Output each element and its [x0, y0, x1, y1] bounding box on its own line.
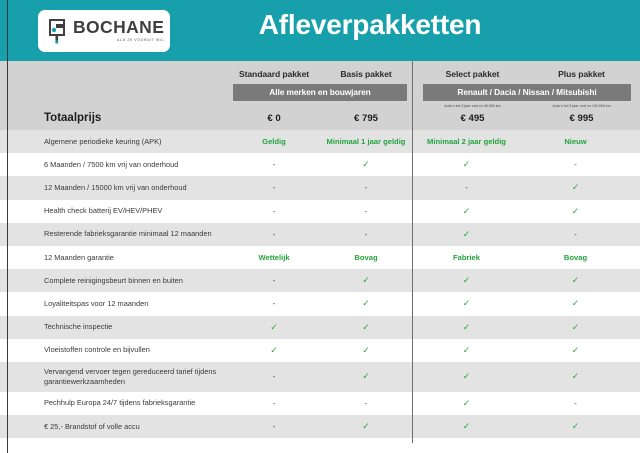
feature-value-col1: -: [228, 422, 320, 431]
table-row: Vloeistoffen controle en bijvullen✓✓✓✓: [0, 339, 640, 362]
feature-label: Loyaliteitspas voor 12 maanden: [0, 299, 228, 309]
price-plus: € 995: [527, 113, 636, 124]
left-edge-rule: [7, 0, 8, 453]
table-row: 6 Maanden / 7500 km vrij van onderhoud-✓…: [0, 153, 640, 176]
table-row: Health check batterij EV/HEV/PHEV--✓✓: [0, 200, 640, 223]
feature-value-col2: ✓: [320, 298, 412, 309]
feature-value-col1: Geldig: [228, 137, 320, 146]
feature-value-col4: ✓: [521, 275, 630, 286]
table-row: Complete reinigingsbeurt binnen en buite…: [0, 269, 640, 292]
feature-value-col3: ✓: [412, 322, 521, 333]
feature-value-col3: Minimaal 2 jaar geldig: [412, 137, 521, 146]
feature-value-col3: Fabriek: [412, 253, 521, 262]
feature-label: Technische inspectie: [0, 322, 228, 332]
page-header: BOCHANE ALS JE VOORUIT WIL Afleverpakket…: [0, 0, 640, 61]
feature-comparison-table: Algemene periodieke keuring (APK)GeldigM…: [0, 130, 640, 438]
feature-value-col2: ✓: [320, 159, 412, 170]
feature-value-col3: ✓: [412, 206, 521, 217]
feature-value-col1: -: [228, 399, 320, 408]
table-footer-spacer: [0, 438, 640, 453]
column-header-plus: Plus pakket: [527, 69, 636, 79]
feature-value-col2: ✓: [320, 322, 412, 333]
feature-value-col2: -: [320, 230, 412, 239]
column-header-standaard: Standaard pakket: [228, 69, 320, 79]
feature-value-col4: -: [521, 230, 630, 239]
feature-value-col4: Nieuw: [521, 137, 630, 146]
feature-value-col4: ✓: [521, 206, 630, 217]
table-row: 12 Maanden / 15000 km vrij van onderhoud…: [0, 176, 640, 199]
total-price-label: Totaalprijs: [0, 112, 228, 124]
feature-value-col3: ✓: [412, 421, 521, 432]
price-standaard: € 0: [228, 113, 320, 124]
feature-value-col1: Wettelijk: [228, 253, 320, 262]
table-row: € 25,- Brandstof of volle accu-✓✓✓: [0, 415, 640, 438]
feature-value-col2: -: [320, 399, 412, 408]
table-row: Vervangend vervoer tegen gereduceerd tar…: [0, 362, 640, 392]
feature-value-col4: ✓: [521, 371, 630, 382]
feature-value-col1: -: [228, 207, 320, 216]
feature-value-col4: ✓: [521, 421, 630, 432]
feature-value-col4: Bovag: [521, 253, 630, 262]
feature-label: Vervangend vervoer tegen gereduceerd tar…: [0, 367, 228, 387]
feature-label: Complete reinigingsbeurt binnen en buite…: [0, 276, 228, 286]
feature-value-col1: -: [228, 230, 320, 239]
table-row: 12 Maanden garantieWettelijkBovagFabriek…: [0, 246, 640, 269]
feature-value-col1: -: [228, 160, 320, 169]
feature-value-col4: ✓: [521, 182, 630, 193]
brand-bar-left: Alle merken en bouwjaren: [233, 84, 407, 101]
feature-value-col4: -: [521, 160, 630, 169]
feature-value-col2: -: [320, 183, 412, 192]
column-header-select: Select pakket: [418, 69, 527, 79]
feature-value-col2: Minimaal 1 jaar geldig: [320, 137, 412, 146]
column-header-band: Standaard pakket Basis pakket Alle merke…: [0, 61, 640, 130]
feature-value-col1: ✓: [228, 345, 320, 356]
price-select: € 495: [418, 113, 527, 124]
group-divider-rule: [412, 61, 413, 443]
feature-value-col3: ✓: [412, 398, 521, 409]
feature-value-col3: ✓: [412, 371, 521, 382]
feature-value-col4: -: [521, 399, 630, 408]
table-row: Resterende fabrieksgarantie minimaal 12 …: [0, 223, 640, 246]
feature-label: 12 Maanden / 15000 km vrij van onderhoud: [0, 183, 228, 193]
feature-value-col4: ✓: [521, 345, 630, 356]
feature-value-col2: ✓: [320, 275, 412, 286]
table-row: Loyaliteitspas voor 12 maanden-✓✓✓: [0, 292, 640, 315]
feature-value-col2: -: [320, 207, 412, 216]
brand-bar-right: Renault / Dacia / Nissan / Mitsubishi: [423, 84, 631, 101]
table-row: Pechhulp Europa 24/7 tijdens fabrieksgar…: [0, 392, 640, 415]
feature-value-col3: ✓: [412, 345, 521, 356]
feature-value-col3: ✓: [412, 298, 521, 309]
feature-value-col1: -: [228, 276, 320, 285]
feature-value-col2: ✓: [320, 345, 412, 356]
feature-label: 6 Maanden / 7500 km vrij van onderhoud: [0, 160, 228, 170]
feature-label: Algemene periodieke keuring (APK): [0, 137, 228, 147]
feature-value-col1: ✓: [228, 322, 320, 333]
feature-value-col1: -: [228, 372, 320, 381]
column-header-basis: Basis pakket: [320, 69, 412, 79]
feature-value-col3: ✓: [412, 159, 521, 170]
feature-value-col3: ✓: [412, 275, 521, 286]
feature-value-col2: ✓: [320, 421, 412, 432]
feature-label: 12 Maanden garantie: [0, 253, 228, 263]
feature-value-col2: ✓: [320, 371, 412, 382]
feature-value-col4: ✓: [521, 298, 630, 309]
feature-value-col2: Bovag: [320, 253, 412, 262]
feature-label: Vloeistoffen controle en bijvullen: [0, 345, 228, 355]
table-row: Technische inspectie✓✓✓✓: [0, 316, 640, 339]
page-title: Afleverpakketten: [0, 9, 640, 41]
feature-label: Health check batterij EV/HEV/PHEV: [0, 206, 228, 216]
feature-value-col1: -: [228, 299, 320, 308]
feature-value-col4: ✓: [521, 322, 630, 333]
feature-value-col3: ✓: [412, 229, 521, 240]
afleverpakketten-sheet: BOCHANE ALS JE VOORUIT WIL Afleverpakket…: [0, 0, 640, 453]
feature-label: € 25,- Brandstof of volle accu: [0, 422, 228, 432]
feature-value-col3: -: [412, 183, 521, 192]
price-basis: € 795: [320, 113, 412, 124]
feature-label: Pechhulp Europa 24/7 tijdens fabrieksgar…: [0, 398, 228, 408]
total-price-row: Totaalprijs € 0 € 795 € 495 € 995: [0, 108, 640, 128]
table-row: Algemene periodieke keuring (APK)GeldigM…: [0, 130, 640, 153]
feature-label: Resterende fabrieksgarantie minimaal 12 …: [0, 229, 228, 239]
feature-value-col1: -: [228, 183, 320, 192]
